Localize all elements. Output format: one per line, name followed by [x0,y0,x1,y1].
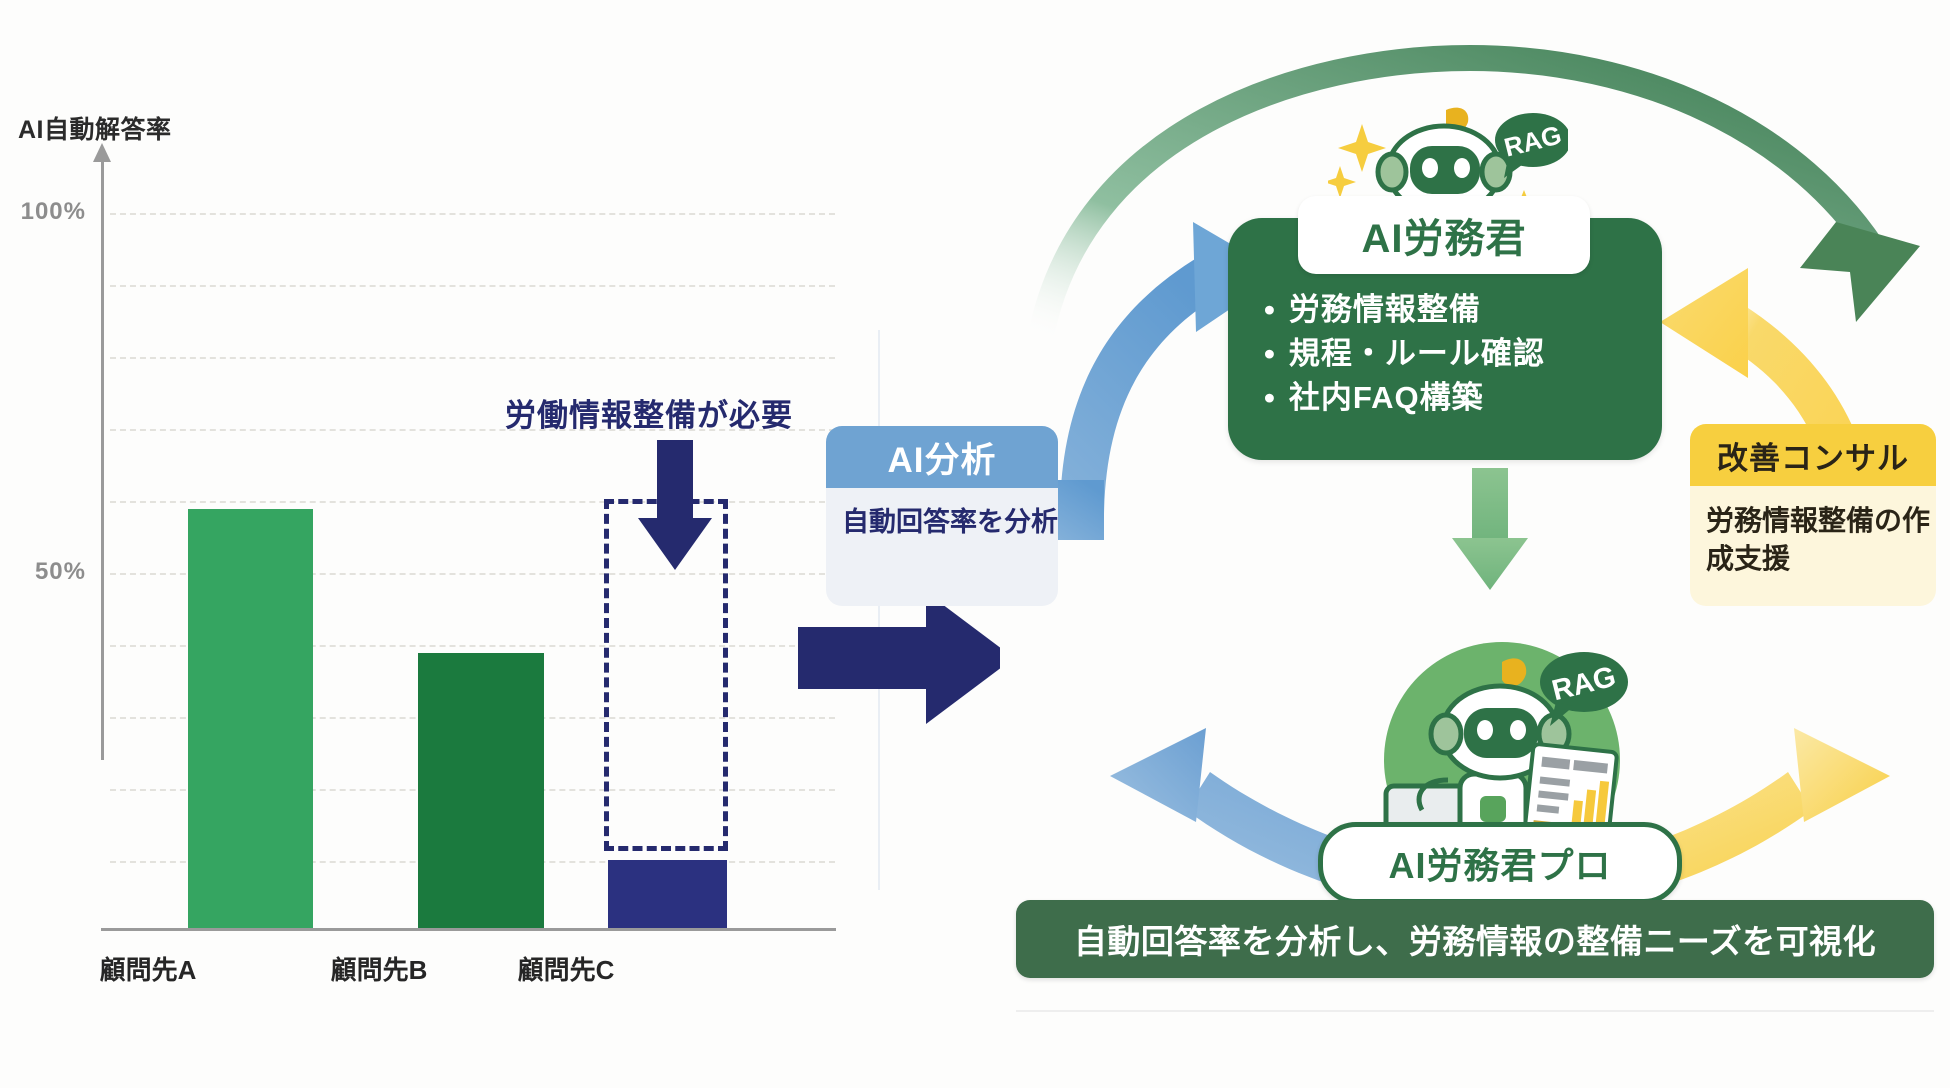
y-tick-label-100: 100% [0,198,86,226]
bar-kokumonsaki-b [418,653,544,928]
bar-chart-panel: AI自動解答率 100% 50% 労働情報整備が必要 顧問 [0,0,880,1088]
bullet-item: 規程・ルール確認 [1264,332,1662,376]
ai-bunseki-body: 自動回答率を分析 [826,488,1058,606]
chart-axis-title: AI自動解答率 [18,110,172,146]
category-label-b: 顧問先B [279,950,479,987]
category-label-c: 顧問先C [466,950,666,987]
slide-root: AI自動解答率 100% 50% 労働情報整備が必要 顧問 [0,0,1950,1088]
banner-underline-divider [1016,1010,1934,1012]
node-kaizen-consul-card[interactable]: 改善コンサル 労務情報整備の作成支援 [1690,424,1936,606]
node-ai-bunseki-card[interactable]: AI分析 自動回答率を分析 [826,426,1058,606]
kaizen-consul-body: 労務情報整備の作成支援 [1690,486,1936,606]
transition-right-arrow-icon [798,592,1013,724]
ai-roumukun-pro-pill[interactable]: AI労務君プロ [1318,822,1682,904]
annotation-down-arrow-icon [638,440,712,570]
bullet-item: 労務情報整備 [1264,288,1662,332]
category-label-a: 顧問先A [48,950,248,987]
bar-kokumonsaki-a [188,509,313,928]
kaizen-consul-header: 改善コンサル [1690,424,1936,486]
cycle-diagram-panel: 労務情報整備 規程・ルール確認 社内FAQ構築 [1000,10,1950,1070]
chart-annotation-label: 労働情報整備が必要 [505,390,793,435]
y-tick-label-50: 50% [0,558,86,586]
bullet-item: 社内FAQ構築 [1264,376,1662,420]
x-axis-line [101,928,836,931]
summary-banner: 自動回答率を分析し、労務情報の整備ニーズを可視化 [1016,900,1934,978]
ai-bunseki-header: AI分析 [826,426,1058,488]
bar-kokumonsaki-c [608,860,727,928]
ai-roumukun-name-pill: AI労務君 [1298,196,1590,274]
